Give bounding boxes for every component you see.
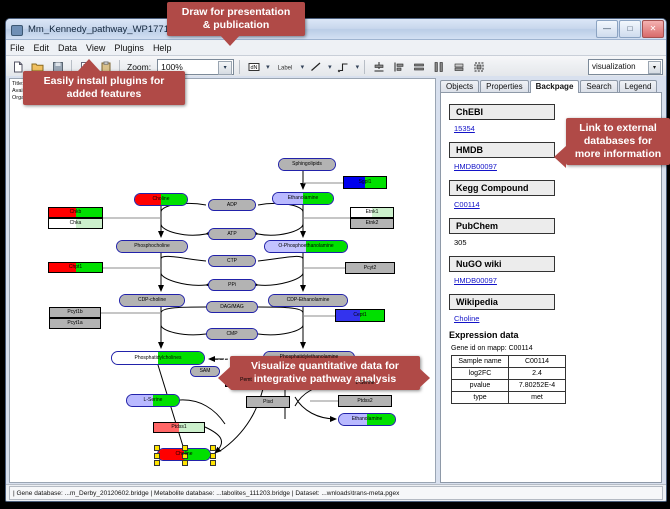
node-label: Cept1 xyxy=(353,313,366,318)
node-label: Pcyt1a xyxy=(67,321,82,326)
maximize-button[interactable]: □ xyxy=(619,20,641,38)
node-label: Pcyt2 xyxy=(364,266,377,271)
callout-draw-line2: & publication xyxy=(173,19,299,32)
node-label: L-Serine xyxy=(356,381,375,386)
menu-item-view[interactable]: View xyxy=(86,43,105,53)
window-titlebar: Mm_Kennedy_pathway_WP1771_45176.gpml — □… xyxy=(6,19,666,40)
db-link-kegg[interactable]: C00114 xyxy=(454,200,653,209)
menu-item-data[interactable]: Data xyxy=(58,43,77,53)
node-label: CTP xyxy=(227,259,237,264)
status-bar-inner: | Gene database: ...m_Derby_20120602.bri… xyxy=(9,486,663,500)
tab-legend[interactable]: Legend xyxy=(619,80,658,92)
datanode-icon[interactable]: dN xyxy=(245,58,262,75)
menu-item-file[interactable]: File xyxy=(10,43,25,53)
chevron-down-icon[interactable]: ▾ xyxy=(648,61,661,74)
metabolite-node-dag-mag[interactable]: DAG/MAG xyxy=(206,301,258,313)
metabolite-node-ethanolamine-bottom[interactable]: Ethanolamine xyxy=(338,413,396,426)
node-label: Chpt1 xyxy=(69,265,82,270)
metabolite-node-phosphocholine[interactable]: Phosphocholine xyxy=(116,240,188,253)
metabolite-node-cmp[interactable]: CMP xyxy=(206,328,258,340)
callout-plugins-line1: Easily install plugins for xyxy=(29,75,179,88)
gene-node-pcyt1b[interactable]: Pcyt1b xyxy=(49,307,101,318)
table-cell-key: Sample name xyxy=(452,356,509,368)
selection-handle[interactable] xyxy=(154,445,160,451)
metabolite-node-phosphatidylcholine[interactable]: Phosphatidylcholines xyxy=(111,351,205,365)
callout-plugins: Easily install plugins for added feature… xyxy=(23,71,185,105)
node-label: Ptdss2 xyxy=(357,399,372,404)
callout-links-arrow-icon xyxy=(554,146,566,168)
gene-node-sgpl1[interactable]: Sgpl1 xyxy=(343,176,387,189)
tab-search[interactable]: Search xyxy=(580,80,617,92)
metabolite-node-ppi[interactable]: PPi xyxy=(208,279,256,291)
callout-visualize-arrow-right-icon xyxy=(418,367,430,389)
node-label: PPi xyxy=(228,283,236,288)
node-label: Chkb xyxy=(70,210,82,215)
callout-visualize-line1: Visualize quantitative data for xyxy=(236,360,414,373)
gene-node-chkb[interactable]: Chkb xyxy=(48,207,103,218)
menu-item-plugins[interactable]: Plugins xyxy=(114,43,144,53)
gene-node-ptdss1[interactable]: Ptdss1 xyxy=(153,422,205,433)
node-label: CDP-choline xyxy=(138,298,166,303)
metabolite-node-atp[interactable]: ATP xyxy=(208,228,256,240)
align-left-icon[interactable] xyxy=(390,58,407,75)
chevron-down-icon[interactable]: ▾ xyxy=(218,61,232,75)
status-bar: | Gene database: ...m_Derby_20120602.bri… xyxy=(6,484,666,501)
svg-text:dN: dN xyxy=(250,65,257,71)
selection-handle[interactable] xyxy=(182,460,188,466)
node-label: Choline xyxy=(153,197,170,202)
toolbar-separator xyxy=(364,60,365,74)
node-label: ADP xyxy=(227,203,237,208)
screenshot-root: Mm_Kennedy_pathway_WP1771_45176.gpml — □… xyxy=(0,0,670,509)
callout-visualize-line2: integrative pathway analysis xyxy=(236,373,414,386)
table-cell-key: log2FC xyxy=(452,368,509,380)
table-cell-value: C00114 xyxy=(509,356,566,368)
align-columns-icon[interactable] xyxy=(430,58,447,75)
node-label: Sphingolipids xyxy=(292,162,322,167)
metabolite-node-cdp-choline[interactable]: CDP-choline xyxy=(119,294,185,307)
connector-icon[interactable] xyxy=(335,58,352,75)
node-label: CMP xyxy=(226,332,237,337)
node-label: Choline xyxy=(176,452,193,457)
gene-node-chpt1-top[interactable]: Chpt1 xyxy=(48,262,103,273)
callout-links-line2: databases for xyxy=(572,135,664,148)
callout-visualize: Visualize quantitative data for integrat… xyxy=(230,356,420,390)
table-cell-key: pvalue xyxy=(452,380,509,392)
zoom-value: 100% xyxy=(161,62,183,72)
app-icon xyxy=(10,23,23,36)
table-row: Sample name C00114 xyxy=(452,356,566,368)
expression-data-heading: Expression data xyxy=(449,330,653,340)
gene-node-pisd[interactable]: Pisd xyxy=(246,396,290,408)
node-label: ATP xyxy=(227,232,236,237)
toolbar-separator xyxy=(239,60,240,74)
selection-handle[interactable] xyxy=(210,453,216,459)
visualization-select[interactable]: visualization ▾ xyxy=(588,59,663,75)
tab-properties[interactable]: Properties xyxy=(480,80,528,92)
metabolite-node-o-phosphoethanolamine[interactable]: O-Phosphoethanolamine xyxy=(264,240,348,253)
table-row: log2FC 2.4 xyxy=(452,368,566,380)
db-header-chebi: ChEBI xyxy=(449,104,555,120)
metabolite-node-adp[interactable]: ADP xyxy=(208,199,256,211)
db-header-hmdb: HMDB xyxy=(449,142,555,158)
menu-item-help[interactable]: Help xyxy=(153,43,172,53)
node-label: Ptdss1 xyxy=(171,425,186,430)
callout-draw-arrow-icon xyxy=(219,34,241,46)
label-icon[interactable]: Label xyxy=(273,58,297,75)
db-header-pubchem: PubChem xyxy=(449,218,555,234)
line-icon[interactable] xyxy=(307,58,324,75)
gene-node-cept1[interactable]: Cept1 xyxy=(335,309,385,322)
callout-draw-line1: Draw for presentation xyxy=(173,6,299,19)
node-label: Pcyt1b xyxy=(67,310,82,315)
selection-handle[interactable] xyxy=(154,453,160,459)
node-label: Pemt xyxy=(240,378,252,383)
svg-text:Label: Label xyxy=(277,65,292,71)
align-rows-icon[interactable] xyxy=(410,58,427,75)
callout-links: Link to external databases for more info… xyxy=(566,118,670,165)
callout-links-line1: Link to external xyxy=(572,122,664,135)
gene-node-pcyt2[interactable]: Pcyt2 xyxy=(345,262,395,274)
pathway-canvas[interactable]: Title: Availa Organi xyxy=(9,78,436,483)
node-label: Etnk1 xyxy=(366,210,379,215)
selection-handle[interactable] xyxy=(154,460,160,466)
metabolite-node-sphingolipids[interactable]: Sphingolipids xyxy=(278,158,336,171)
db-value-pubchem: 305 xyxy=(454,238,653,247)
node-label: Pisd xyxy=(263,400,273,405)
chevron-down-icon[interactable]: ▾ xyxy=(266,63,270,71)
node-label: L-Serine xyxy=(144,398,163,403)
gene-node-etnk2[interactable]: Etnk2 xyxy=(350,218,394,229)
align-center-icon[interactable] xyxy=(370,58,387,75)
visualization-value: visualization xyxy=(592,62,636,71)
window-buttons: — □ ✕ xyxy=(596,20,664,38)
node-label: Phosphocholine xyxy=(134,244,170,249)
side-panel-tabs: Objects Properties Backpage Search Legen… xyxy=(440,78,662,93)
callout-visualize-arrow-icon xyxy=(218,367,230,389)
expression-table: Sample name C00114 log2FC 2.4 pvalue 7.8… xyxy=(451,355,566,404)
db-header-nugowiki: NuGO wiki xyxy=(449,256,555,272)
status-bar-text: | Gene database: ...m_Derby_20120602.bri… xyxy=(13,490,399,497)
table-row: type met xyxy=(452,392,566,404)
node-label: Phosphatidylethanolamine xyxy=(280,355,339,360)
stack-icon[interactable] xyxy=(450,58,467,75)
node-label: Sgpl1 xyxy=(359,180,372,185)
gene-node-chka[interactable]: Chka xyxy=(48,218,103,229)
menubar: File Edit Data View Plugins Help xyxy=(6,40,666,56)
tab-objects[interactable]: Objects xyxy=(440,80,479,92)
callout-plugins-line2: added features xyxy=(29,88,179,101)
node-label: Chka xyxy=(70,221,82,226)
callout-links-line3: more information xyxy=(572,148,664,161)
node-label: CDP-Ethanolamine xyxy=(287,298,330,303)
node-label: DAG/MAG xyxy=(220,305,244,310)
gene-node-ptdss2[interactable]: Ptdss2 xyxy=(338,395,392,407)
zoom-label: Zoom: xyxy=(127,62,151,72)
table-cell-value: met xyxy=(509,392,566,404)
close-button[interactable]: ✕ xyxy=(642,20,664,38)
node-label: O-Phosphoethanolamine xyxy=(278,244,333,249)
node-label: Etnk2 xyxy=(366,221,379,226)
metabolite-node-ctp[interactable]: CTP xyxy=(208,255,256,267)
menu-item-edit[interactable]: Edit xyxy=(34,43,50,53)
callout-draw: Draw for presentation & publication xyxy=(167,2,305,36)
metabolite-node-l-serine-left[interactable]: L-Serine xyxy=(126,394,180,407)
db-header-wikipedia: Wikipedia xyxy=(449,294,555,310)
chevron-down-icon[interactable]: ▾ xyxy=(356,63,360,71)
chevron-down-icon[interactable]: ▾ xyxy=(328,63,332,71)
db-link-nugowiki[interactable]: HMDB00097 xyxy=(454,276,653,285)
selection-handle[interactable] xyxy=(210,460,216,466)
metabolite-node-ethanolamine-top[interactable]: Ethanolamine xyxy=(272,192,334,205)
gene-node-etnk1[interactable]: Etnk1 xyxy=(350,207,394,218)
table-cell-value: 2.4 xyxy=(509,368,566,380)
table-row: pvalue 7.80252E-4 xyxy=(452,380,566,392)
callout-plugins-arrow-icon xyxy=(78,59,100,71)
db-link-wikipedia[interactable]: Choline xyxy=(454,314,653,323)
metabolite-node-sam[interactable]: SAM xyxy=(190,366,220,377)
tab-backpage[interactable]: Backpage xyxy=(530,80,580,93)
node-label: Ethanolamine xyxy=(288,196,319,201)
selection-handle[interactable] xyxy=(210,445,216,451)
chevron-down-icon[interactable]: ▾ xyxy=(301,63,305,71)
group-icon[interactable] xyxy=(470,58,487,75)
node-label: Phosphatidylcholines xyxy=(135,356,182,361)
table-cell-key: type xyxy=(452,392,509,404)
gene-id-line: Gene id on mapp: C00114 xyxy=(451,345,653,352)
db-header-kegg: Kegg Compound xyxy=(449,180,555,196)
minimize-button[interactable]: — xyxy=(596,20,618,38)
node-label: Ethanolamine xyxy=(352,417,383,422)
gene-node-pcyt1a[interactable]: Pcyt1a xyxy=(49,318,101,329)
node-label: SAM xyxy=(200,369,211,374)
table-cell-value: 7.80252E-4 xyxy=(509,380,566,392)
metabolite-node-choline-top[interactable]: Choline xyxy=(134,193,188,206)
metabolite-node-cdp-ethanolamine[interactable]: CDP-Ethanolamine xyxy=(268,294,348,307)
